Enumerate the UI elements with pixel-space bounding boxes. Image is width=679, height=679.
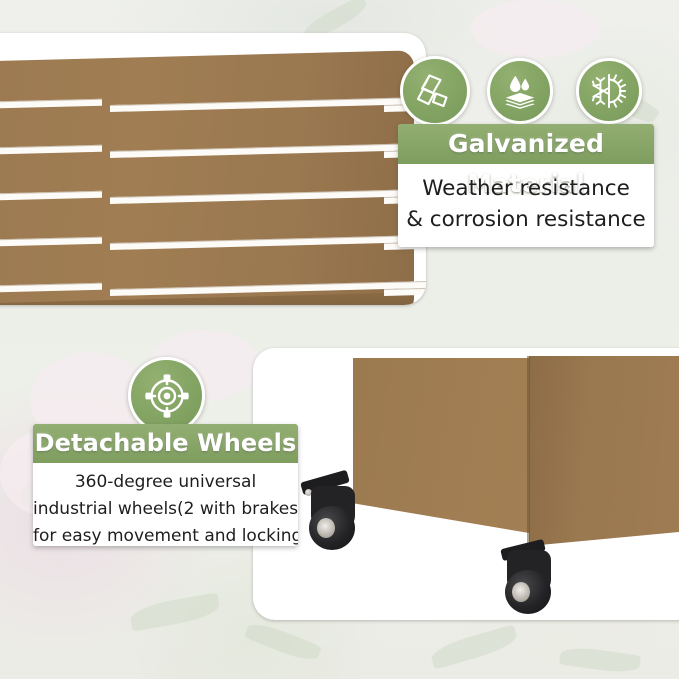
callout-title-wheels: Detachable Wheels <box>33 424 298 463</box>
product-panel-base <box>253 348 679 620</box>
callout-line: Weather resistance <box>398 173 654 204</box>
caster-wheel-front <box>301 476 373 552</box>
sun-snowflake-icon <box>576 58 642 124</box>
caster-hub <box>512 582 530 602</box>
callout-title-galvanized: Galvanized Material <box>398 124 654 164</box>
box-corner-seam <box>527 356 530 548</box>
swivel-target-icon <box>128 357 205 434</box>
metal-ingots-icon <box>400 56 470 126</box>
callout-body-galvanized: Weather resistance & corrosion resistanc… <box>398 164 654 235</box>
callout-body-wheels: 360-degree universal industrial wheels(2… <box>33 463 298 546</box>
product-panel-lid <box>0 33 426 305</box>
caster-hub <box>317 518 335 538</box>
callout-line: industrial wheels(2 with brakes) <box>33 496 298 523</box>
callout-galvanized-material: Galvanized Material Weather resistance &… <box>398 124 654 247</box>
background-blossom <box>470 0 600 58</box>
deck-box-lid-artwork <box>0 63 414 305</box>
caster-wheel-rear <box>499 544 571 620</box>
box-face-right <box>529 356 679 546</box>
water-layers-icon <box>487 58 553 124</box>
callout-detachable-wheels: Detachable Wheels 360-degree universal i… <box>33 424 298 546</box>
callout-line: & corrosion resistance <box>398 204 654 235</box>
box-face-left <box>353 358 529 533</box>
callout-line: for easy movement and locking <box>33 523 298 546</box>
callout-line: 360-degree universal <box>33 469 298 496</box>
lid-surface <box>0 50 414 305</box>
deck-box-base-artwork <box>353 356 679 561</box>
